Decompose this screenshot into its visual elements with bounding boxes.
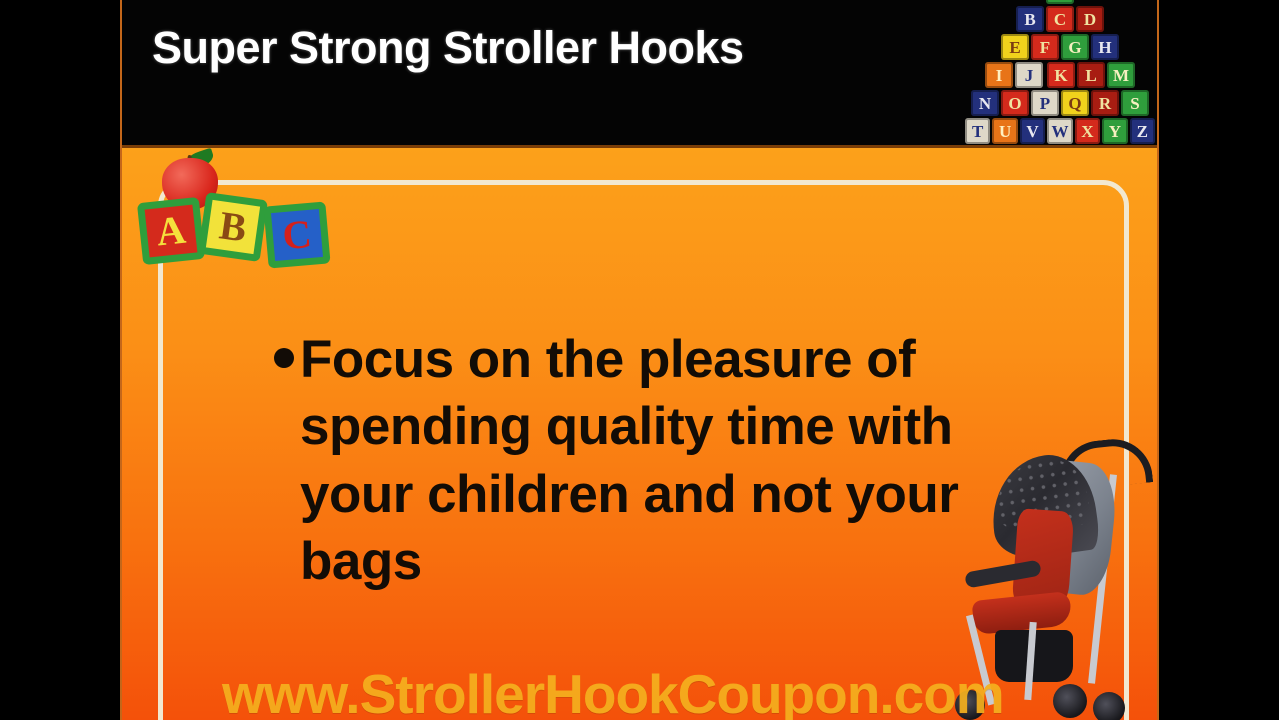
alphabet-block-pyramid-icon: A B C D E F G H I J K bbox=[965, 0, 1155, 148]
bullet-text: Focus on the pleasure of spending qualit… bbox=[300, 326, 1014, 595]
alphabet-block-i: I bbox=[985, 62, 1013, 88]
alphabet-block-g: G bbox=[1061, 34, 1089, 60]
presentation-slide: Super Strong Stroller Hooks A B C D E F … bbox=[120, 0, 1159, 720]
pyramid-row: A bbox=[965, 0, 1155, 4]
pyramid-row: B C D bbox=[965, 6, 1155, 32]
abc-blocks-decoration: A B C bbox=[134, 158, 364, 303]
alphabet-block-a: A bbox=[1046, 0, 1074, 4]
watermark-url: www.StrollerHookCoupon.com bbox=[222, 662, 1082, 720]
alphabet-block-n: N bbox=[971, 90, 999, 116]
stroller-wheel-rear-right bbox=[1093, 692, 1125, 720]
pyramid-row: I J K L M bbox=[965, 62, 1155, 88]
alphabet-block-d: D bbox=[1076, 6, 1104, 32]
slide-header-band: Super Strong Stroller Hooks A B C D E F … bbox=[122, 0, 1157, 148]
alphabet-block-b: B bbox=[1016, 6, 1044, 32]
alphabet-block-y: Y bbox=[1102, 118, 1127, 144]
alphabet-block-h: H bbox=[1091, 34, 1119, 60]
slide-body: A B C Focus on the pleasure of spending … bbox=[122, 148, 1157, 720]
alphabet-block-q: Q bbox=[1061, 90, 1089, 116]
pyramid-row: N O P Q R S bbox=[965, 90, 1155, 116]
bullet-point: Focus on the pleasure of spending qualit… bbox=[274, 326, 1014, 595]
alphabet-block-f: F bbox=[1031, 34, 1059, 60]
alphabet-block-u: U bbox=[992, 118, 1017, 144]
alphabet-block-v: V bbox=[1020, 118, 1045, 144]
alphabet-block-z: Z bbox=[1130, 118, 1155, 144]
alphabet-block-p: P bbox=[1031, 90, 1059, 116]
video-letterbox-frame: Super Strong Stroller Hooks A B C D E F … bbox=[0, 0, 1279, 720]
pyramid-row: T U V W X Y Z bbox=[965, 118, 1155, 144]
alphabet-block-x: X bbox=[1075, 118, 1100, 144]
alphabet-block-w: W bbox=[1047, 118, 1072, 144]
bullet-dot-icon bbox=[274, 348, 294, 368]
alphabet-block-m: M bbox=[1107, 62, 1135, 88]
abc-block-a: A bbox=[137, 197, 205, 265]
alphabet-block-r: R bbox=[1091, 90, 1119, 116]
alphabet-block-k: K bbox=[1047, 62, 1075, 88]
alphabet-block-j: J bbox=[1015, 62, 1043, 88]
slide-title: Super Strong Stroller Hooks bbox=[152, 22, 744, 74]
alphabet-block-c: C bbox=[1046, 6, 1074, 32]
alphabet-block-t: T bbox=[965, 118, 990, 144]
alphabet-block-o: O bbox=[1001, 90, 1029, 116]
pyramid-row: E F G H bbox=[965, 34, 1155, 60]
abc-block-c: C bbox=[263, 201, 330, 268]
alphabet-block-s: S bbox=[1121, 90, 1149, 116]
alphabet-block-e: E bbox=[1001, 34, 1029, 60]
abc-block-b: B bbox=[198, 192, 268, 262]
alphabet-block-l: L bbox=[1077, 62, 1105, 88]
stroller-seat bbox=[971, 591, 1072, 635]
